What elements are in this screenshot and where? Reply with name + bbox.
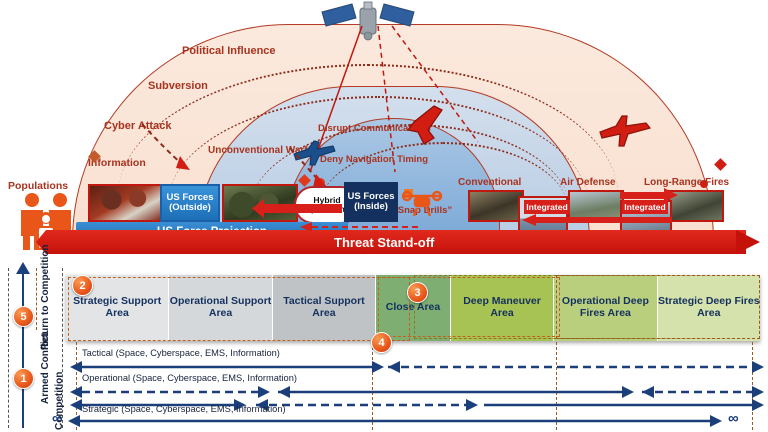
drone-icon [400,190,444,220]
arrow-row-tactical [66,360,766,374]
arrow-row-operational [66,385,766,399]
marker-4[interactable]: 4 [371,332,392,353]
diagram-canvas: Political Influence Subversion Cyber Att… [0,0,768,432]
label-long-range-fires: Long-Range Fires [644,177,729,188]
phase-timeline-arrowhead [16,262,30,274]
populations-label: Populations [8,180,68,192]
marker-5[interactable]: 5 [13,306,34,327]
enemy-aircraft-icon-1 [404,104,452,146]
threat-standoff-label: Threat Stand-off [334,235,434,250]
marker-2[interactable]: 2 [72,275,93,296]
arrow-row-label-operational: Operational (Space, Cyberspace, EMS, Inf… [82,373,297,383]
label-air-defense: Air Defense [560,177,616,188]
threat-standoff-banner: Threat Stand-off [36,230,746,254]
marker-3[interactable]: 3 [407,282,428,303]
arrow-row-label-strategic: Strategic (Space, Cyberspace, EMS, Infor… [82,404,286,414]
threat-standoff-arrowhead [736,230,760,254]
integrated-arrow-right [620,188,678,202]
phase-divider-mid [36,268,37,330]
label-conventional: Conventional [458,177,521,188]
label-integrated-left: Integrated [524,200,570,214]
overlay-support-areas [68,277,410,341]
arc-label-political-influence: Political Influence [182,45,276,57]
arrow-row-label-tactical: Tactical (Space, Cyberspace, EMS, Inform… [82,348,280,358]
photo-conventional [468,190,524,222]
integrated-arrow-back [522,214,672,226]
attack-arrow-left [140,120,220,172]
us-forces-inside-tile: US Forces (Inside) [344,182,398,222]
phase-divider-outer [8,268,9,428]
arc-label-subversion: Subversion [148,80,208,92]
arc-label-disrupt-communications: Disrupt Communications [318,124,406,134]
launch-marker-5 [714,158,727,171]
integrated-arrow-left [252,196,348,222]
us-forces-outside-tile: US Forces (Outside) [160,184,220,222]
infinity-right: ∞ [728,410,739,427]
arrow-row-strategic [52,414,766,428]
threat-standoff-red-dashed-arrow [300,222,420,232]
photo-information [88,184,164,222]
arc-label-unconventional-warfare: Unconventional Warfare [208,145,294,156]
infinity-left: ∞ [52,410,63,427]
marker-1[interactable]: 1 [13,368,34,389]
enemy-aircraft-icon-2 [596,114,652,148]
label-integrated-right: Integrated [622,200,668,214]
phase-timeline-line [22,268,24,428]
overlay-strategic-deep-fires [556,275,760,339]
phase-label-armed-conflict: Armed Conflict [40,350,51,404]
